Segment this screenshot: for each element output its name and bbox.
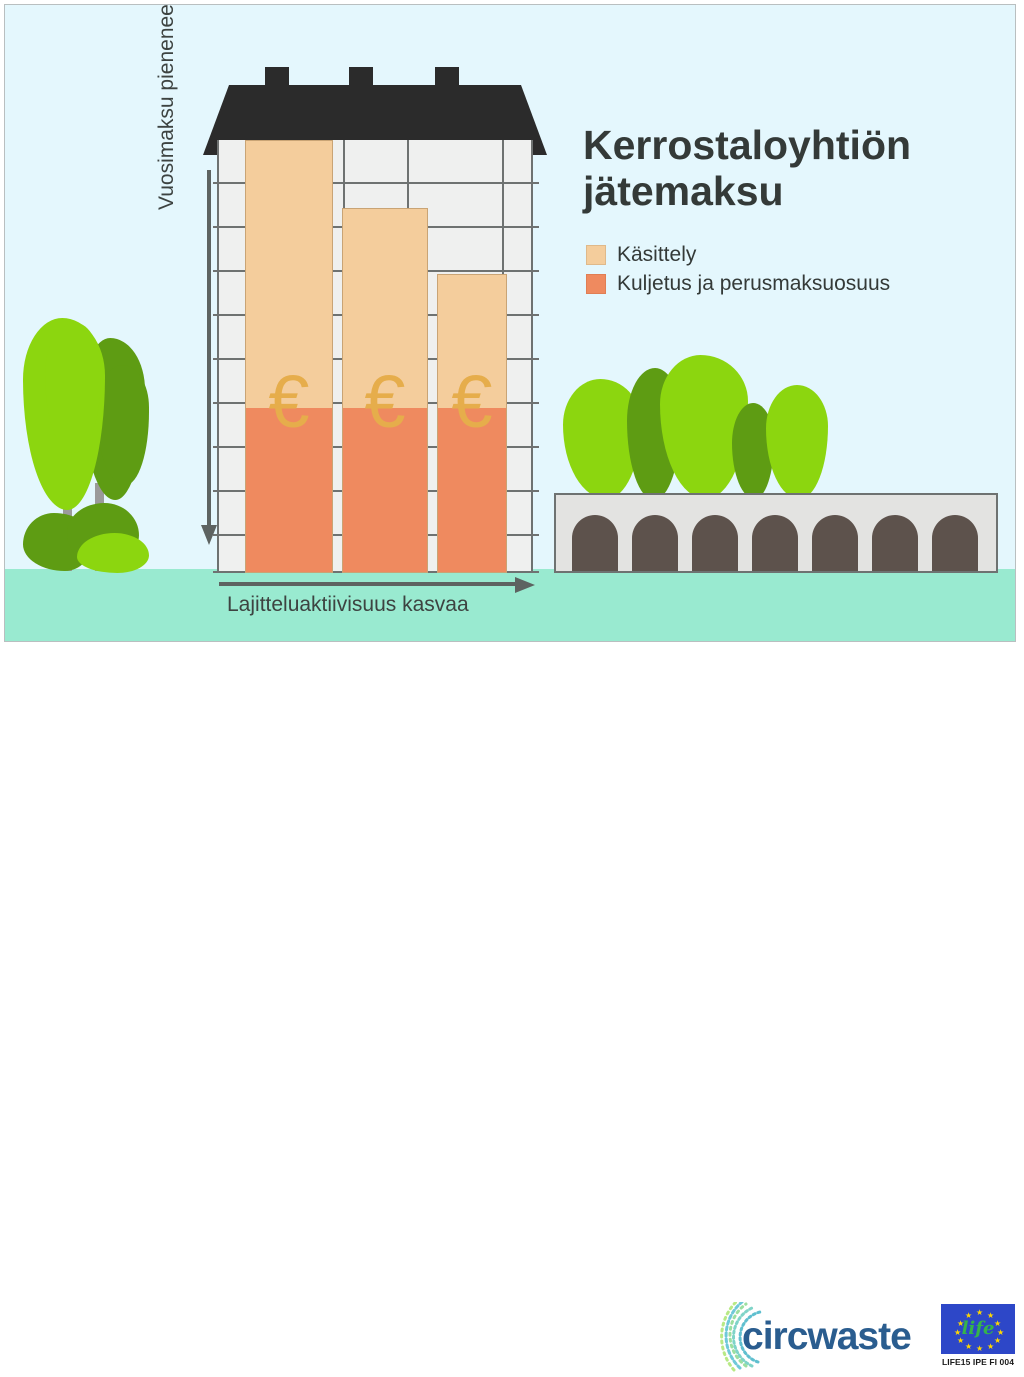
legend-item-kuljetus: Kuljetus ja perusmaksuosuus [586, 272, 890, 296]
legend-item-kasittely: Käsittely [586, 243, 890, 267]
y-axis-shaft [207, 170, 211, 526]
illustration-scene: € € € Vuosimaksu pienenee [4, 4, 1016, 642]
euro-symbol: € [343, 365, 427, 439]
carport-bay [572, 515, 618, 571]
legend-label: Kuljetus ja perusmaksuosuus [617, 272, 890, 296]
footer-logos: circwaste ★ ★ ★ ★ ★ ★ ★ ★ ★ ★ ★ ★ life L… [0, 642, 1024, 744]
y-axis-label: Vuosimaksu pienenee [155, 4, 179, 210]
y-axis-arrowhead-icon [201, 525, 217, 545]
carport-bay [932, 515, 978, 571]
infographic-canvas: € € € Vuosimaksu pienenee [0, 0, 1024, 744]
euro-symbol: € [246, 365, 332, 439]
bush-light-front [77, 533, 149, 573]
x-axis-arrow [219, 577, 535, 593]
bar-3: € [437, 274, 507, 573]
carport-bay [752, 515, 798, 571]
life-wordmark: life [941, 1318, 1015, 1339]
eu-life-caption: LIFE15 IPE FI 004 [941, 1357, 1015, 1367]
carport-bay [632, 515, 678, 571]
y-axis-arrow [205, 170, 213, 545]
euro-symbol: € [438, 365, 506, 439]
page-title: Kerrostaloyhtiön jätemaksu [583, 123, 1003, 215]
bar-2: € [342, 208, 428, 573]
bar-1: € [245, 140, 333, 573]
legend-label: Käsittely [617, 243, 696, 267]
legend-swatch-icon [586, 245, 606, 265]
eu-flag-icon: ★ ★ ★ ★ ★ ★ ★ ★ ★ ★ ★ ★ life [941, 1304, 1015, 1354]
eu-life-logo: ★ ★ ★ ★ ★ ★ ★ ★ ★ ★ ★ ★ life LIFE15 IPE … [941, 1304, 1015, 1367]
carport-bay [872, 515, 918, 571]
bush-light-3 [766, 385, 828, 499]
page-title-line-2: jätemaksu [583, 169, 1003, 215]
circwaste-wordmark: circwaste [742, 1315, 911, 1359]
chart-legend: Käsittely Kuljetus ja perusmaksuosuus [586, 243, 890, 301]
x-axis-label: Lajitteluaktiivisuus kasvaa [227, 593, 469, 617]
carport-building [554, 493, 998, 573]
carport-bay [692, 515, 738, 571]
circwaste-logo: circwaste [706, 1302, 922, 1372]
legend-swatch-icon [586, 274, 606, 294]
x-axis-shaft [219, 582, 517, 586]
x-axis-arrowhead-icon [515, 577, 535, 593]
carport-bay [812, 515, 858, 571]
apartment-building: € € € [213, 67, 537, 573]
page-title-line-1: Kerrostaloyhtiön [583, 123, 1003, 169]
